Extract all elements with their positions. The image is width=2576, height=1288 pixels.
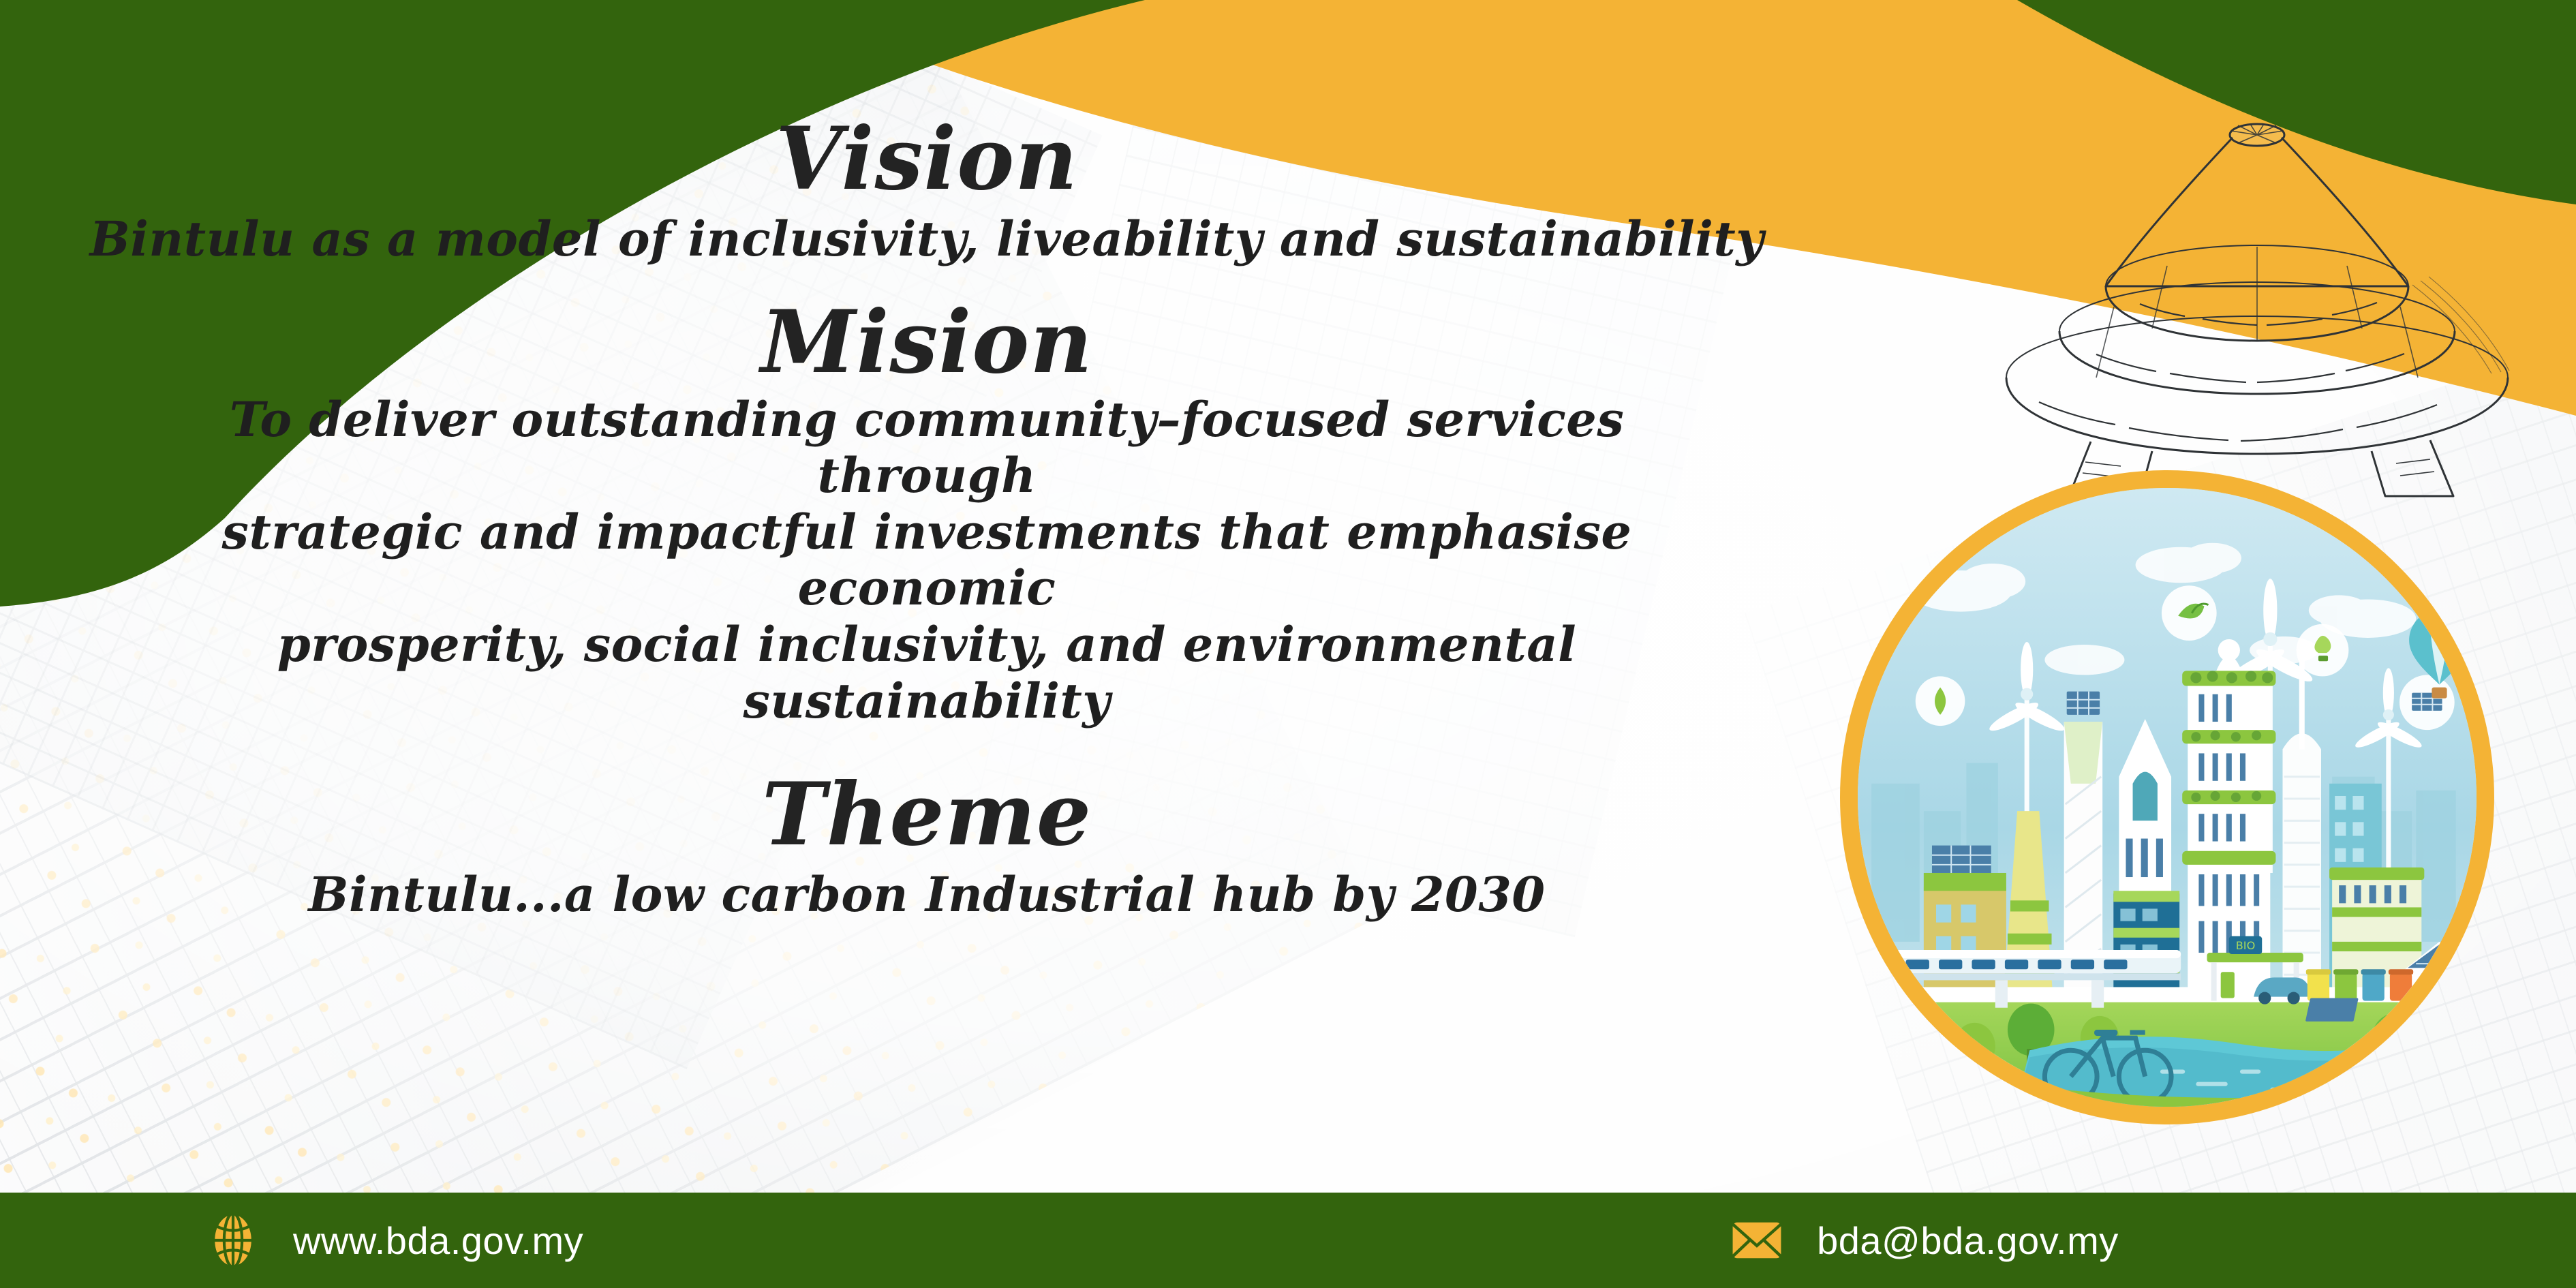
footer-bar: www.bda.gov.my bda@bda.gov.my [0, 1193, 2576, 1288]
vision-heading: Vision [0, 116, 1854, 202]
theme-body: Bintulu...a low carbon Industrial hub by… [0, 867, 1854, 923]
globe-icon [204, 1212, 262, 1269]
website-label: www.bda.gov.my [293, 1218, 583, 1263]
email-label: bda@bda.gov.my [1817, 1218, 2119, 1263]
vision-body: Bintulu as a model of inclusivity, livea… [0, 211, 1854, 268]
copy-block: Vision Bintulu as a model of inclusivity… [0, 116, 1854, 923]
mission-line-1: To deliver outstanding community–focused… [157, 392, 1697, 504]
mission-heading: Mision [0, 299, 1854, 385]
email-contact[interactable]: bda@bda.gov.my [1728, 1212, 2119, 1269]
theme-heading: Theme [0, 771, 1854, 857]
eco-city-illustration: BIO [1840, 470, 2494, 1124]
mission-line-2: strategic and impactful investments that… [157, 504, 1697, 617]
website-contact[interactable]: www.bda.gov.my [204, 1212, 583, 1269]
monument-line-art [1935, 102, 2576, 497]
mission-body: To deliver outstanding community–focused… [157, 392, 1697, 730]
banner-root: BIO [0, 0, 2576, 1288]
svg-text:BIO: BIO [2236, 939, 2256, 952]
mission-line-3: prosperity, social inclusivity, and envi… [157, 617, 1697, 729]
envelope-icon [1728, 1212, 1785, 1269]
